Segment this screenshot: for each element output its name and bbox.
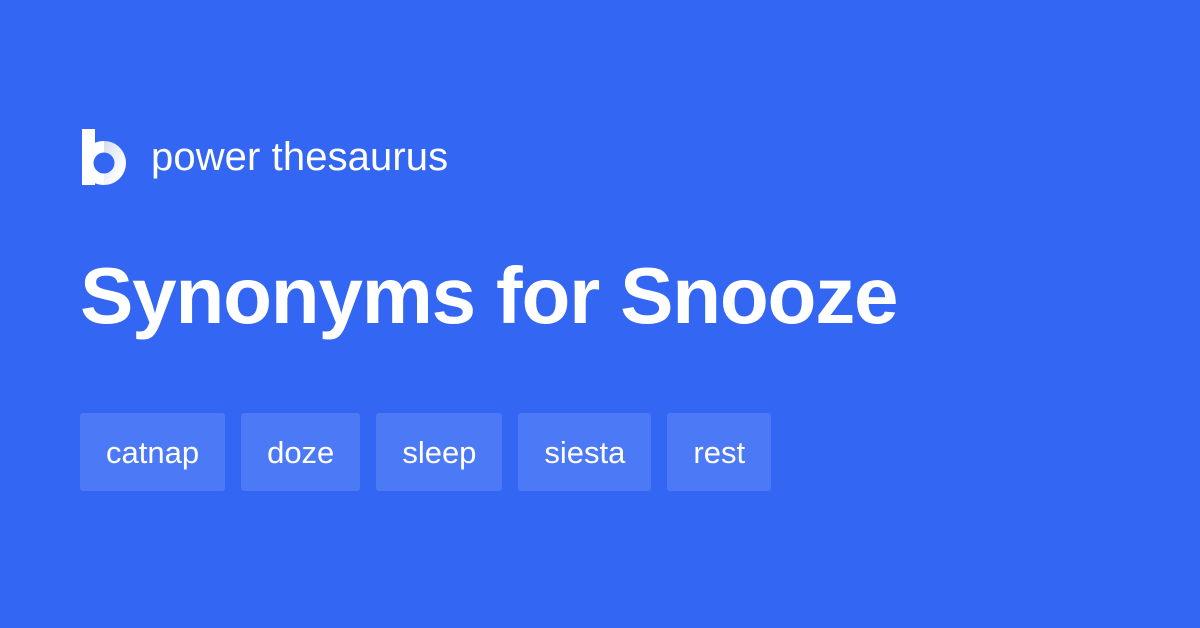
synonym-chip[interactable]: rest — [667, 413, 771, 491]
synonym-chip[interactable]: sleep — [376, 413, 502, 491]
og-card: power thesaurus Synonyms for Snooze catn… — [0, 0, 1200, 628]
page-title: Synonyms for Snooze — [80, 250, 897, 342]
power-thesaurus-b-logo-icon — [80, 129, 126, 185]
synonym-chip[interactable]: siesta — [518, 413, 651, 491]
synonym-chip[interactable]: catnap — [80, 413, 225, 491]
brand-row[interactable]: power thesaurus — [80, 126, 448, 188]
synonym-chip-row: catnap doze sleep siesta rest — [80, 413, 771, 491]
brand-name: power thesaurus — [151, 137, 448, 177]
synonym-chip[interactable]: doze — [241, 413, 360, 491]
